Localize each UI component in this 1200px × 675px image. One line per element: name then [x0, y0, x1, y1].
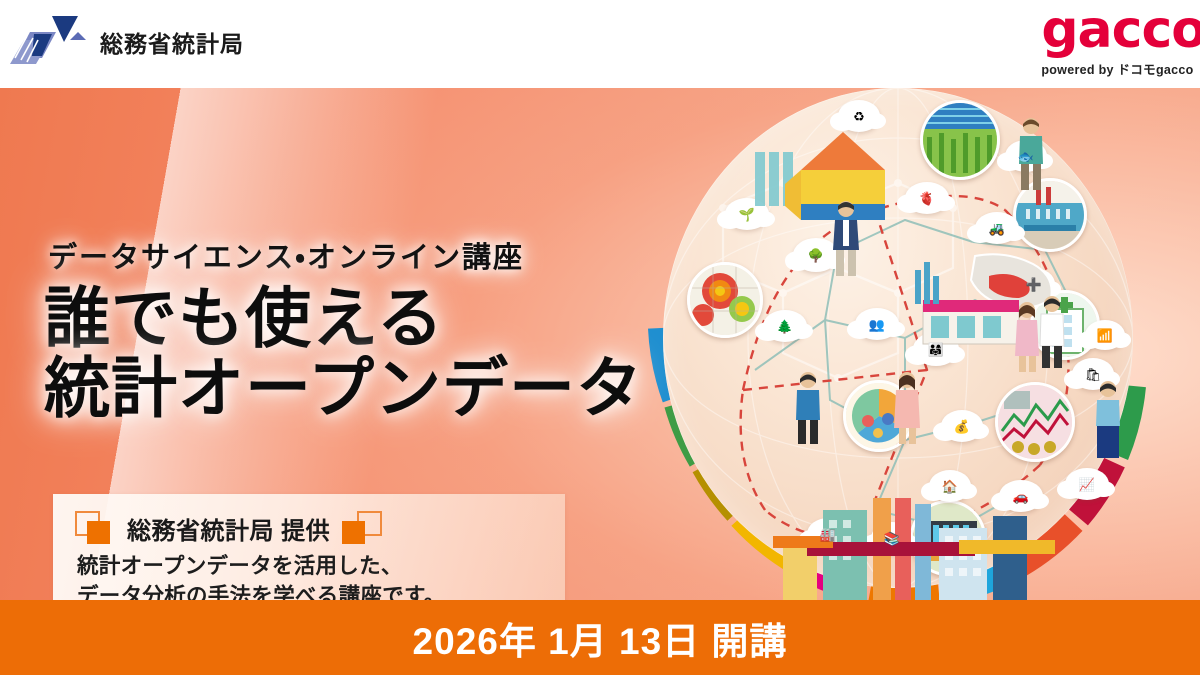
person-figure: [793, 370, 823, 449]
tree-icon: 🌲: [763, 310, 807, 342]
chart-icon: 📈: [1065, 468, 1109, 500]
hero-kicker: データサイエンス・オンライン講座: [48, 234, 524, 276]
page-title-line1: 誰でも使える: [44, 281, 444, 355]
statistics-globe-illustration: ♻ 🫀 🚜 🐟 🌱 🌳 🌲 👥 👨‍👩‍👧 ➕ 🛍 💰 🏠 🚗 📈 🏭 📚 📶: [575, 88, 1195, 600]
page-title: 誰でも使える 統計オープンデータ: [44, 284, 643, 424]
tractor-icon: 🚜: [975, 212, 1019, 244]
page-title-line2: 統計オープンデータ: [44, 354, 643, 424]
square-decoration-left-icon: [75, 511, 115, 545]
person-figure: [829, 198, 863, 283]
course-description: 統計オープンデータを活用した、 データ分析の手法を学べる講座です。: [77, 552, 549, 600]
course-description-line1: 統計オープンデータを活用した、: [77, 552, 549, 582]
person-figure: [1093, 378, 1123, 463]
banner-root: 総務省統計局 gacco powered by ドコモgacco: [0, 0, 1200, 675]
hero-canvas: ♻ 🫀 🚜 🐟 🌱 🌳 🌲 👥 👨‍👩‍👧 ➕ 🛍 💰 🏠 🚗 📈 🏭 📚 📶: [0, 88, 1200, 600]
gacco-wordmark: gacco: [1041, 6, 1200, 55]
ministry-logo-block: 総務省統計局: [6, 14, 244, 70]
person-figure: [1013, 300, 1041, 377]
finance-chart-bubble: [995, 382, 1075, 462]
people-icon: 👥: [855, 308, 899, 340]
square-decoration-right-icon: [342, 511, 382, 545]
provider-row: 総務省統計局 提供: [75, 508, 551, 548]
heatmap-bubble: [687, 262, 763, 338]
ministry-name-label: 総務省統計局: [100, 25, 244, 59]
start-date-bar: 2026年 1月 13日 開講: [0, 600, 1200, 675]
farm-field-bubble: [920, 100, 1000, 180]
provider-label: 総務省統計局 提供: [127, 511, 330, 546]
heart-health-icon: 🫀: [905, 182, 949, 214]
money-icon: 💰: [941, 410, 983, 442]
start-date-label: 2026年 1月 13日 開講: [413, 611, 788, 665]
gacco-brand-block[interactable]: gacco powered by ドコモgacco: [1041, 6, 1200, 78]
gacco-tagline: powered by ドコモgacco: [1041, 59, 1200, 78]
wifi-icon: 📶: [1085, 320, 1125, 350]
person-figure: [1037, 294, 1067, 373]
page-header: 総務省統計局 gacco powered by ドコモgacco: [0, 0, 1200, 88]
house-landmark-icon: [755, 126, 895, 241]
course-info-panel: 総務省統計局 提供 統計オープンデータを活用した、 データ分析の手法を学べる講座…: [53, 494, 565, 600]
person-figure: [893, 370, 921, 449]
course-description-line2: データ分析の手法を学べる講座です。: [77, 582, 549, 600]
ministry-mark-icon: [6, 14, 90, 70]
